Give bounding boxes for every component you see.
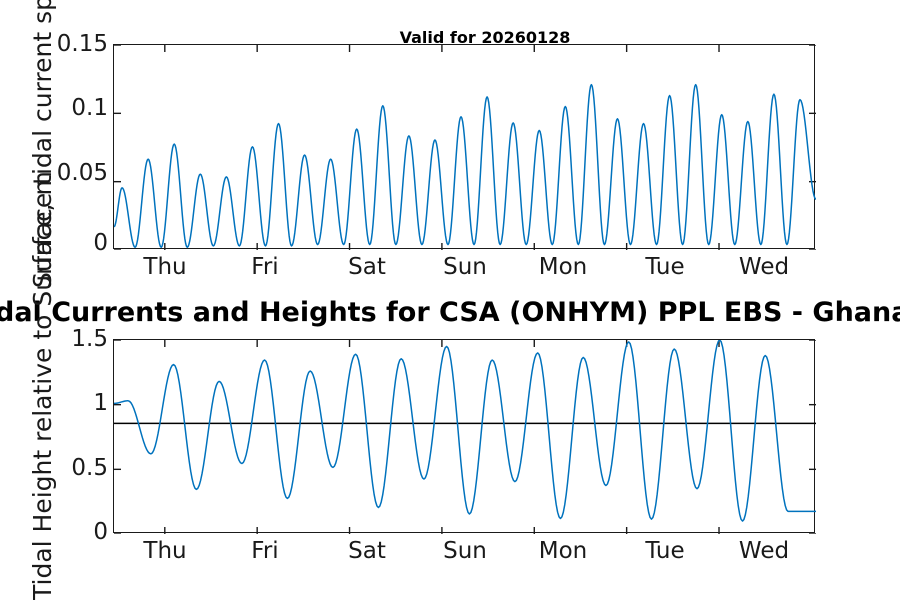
data-series-tidal-height	[114, 340, 816, 521]
xtick-bottom-fri: Fri	[225, 540, 305, 563]
xtick-top-sat: Sat	[327, 256, 407, 279]
xtick-bottom-sat: Sat	[327, 540, 407, 563]
page-title: dal Currents and Heights for CSA (ONHYM)…	[0, 299, 900, 326]
ytick-bottom-0: 0	[30, 521, 108, 544]
xtick-top-mon: Mon	[518, 256, 608, 279]
xtick-bottom-thu: Thu	[125, 540, 205, 563]
plot-area-current-speed[interactable]	[113, 44, 815, 249]
xtick-top-sun: Sun	[420, 256, 510, 279]
ytick-bottom-1: 0.5	[30, 457, 108, 480]
ytick-top-2: 0.1	[30, 97, 108, 120]
xtick-bottom-mon: Mon	[518, 540, 608, 563]
xtick-bottom-sun: Sun	[420, 540, 510, 563]
data-series-surface-current-speed	[114, 85, 816, 248]
ytick-bottom-2: 1	[30, 392, 108, 415]
ytick-bottom-3: 1.5	[30, 328, 108, 351]
ytick-top-3: 0.15	[30, 33, 108, 56]
xtick-bottom-tue: Tue	[620, 540, 710, 563]
plot-area-tidal-height[interactable]	[113, 339, 815, 533]
xtick-top-tue: Tue	[620, 256, 710, 279]
xtick-top-wed: Wed	[714, 256, 814, 279]
tidal-figure: Surface tidal current speed, kn Valid fo…	[0, 0, 900, 600]
xtick-bottom-wed: Wed	[714, 540, 814, 563]
xtick-top-fri: Fri	[225, 256, 305, 279]
xtick-top-thu: Thu	[125, 256, 205, 279]
